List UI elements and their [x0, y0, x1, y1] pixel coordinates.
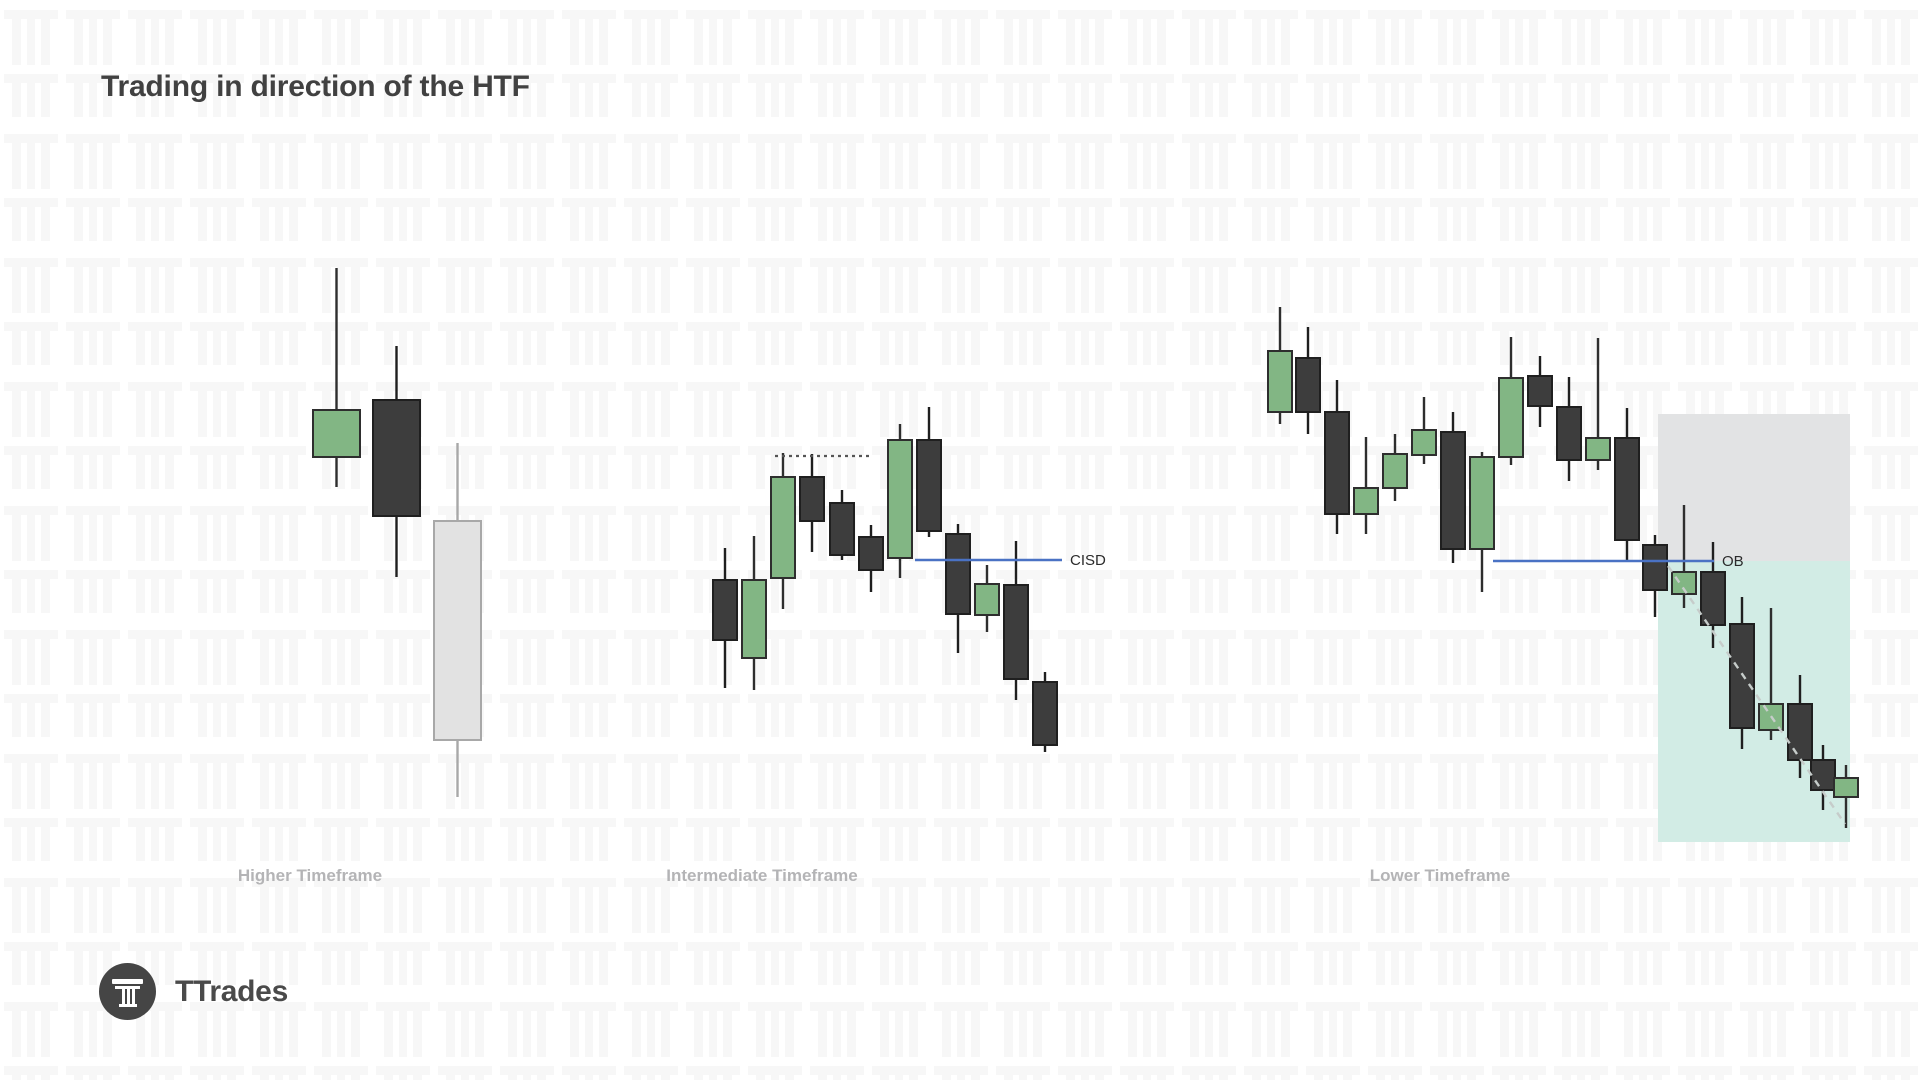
- candle-intermediate-timeframe-5[interactable]: [859, 525, 883, 592]
- candle-body-bear: [1701, 572, 1725, 625]
- panel-label-higher-timeframe: Higher Timeframe: [238, 866, 382, 886]
- candle-higher-timeframe-2[interactable]: [434, 443, 481, 797]
- candle-lower-timeframe-11[interactable]: [1586, 338, 1610, 470]
- candle-body-bear: [373, 400, 420, 516]
- candle-lower-timeframe-0[interactable]: [1268, 307, 1292, 424]
- panel-label-intermediate-timeframe: Intermediate Timeframe: [666, 866, 857, 886]
- candle-intermediate-timeframe-7[interactable]: [917, 407, 941, 537]
- candle-body-bull: [1499, 378, 1523, 457]
- candle-intermediate-timeframe-2[interactable]: [771, 453, 795, 609]
- page-title: Trading in direction of the HTF: [101, 70, 530, 104]
- candle-body-bull: [1586, 438, 1610, 460]
- candle-body-bear: [1643, 545, 1667, 590]
- ttrades-logo-icon: [99, 963, 156, 1020]
- candle-intermediate-timeframe-1[interactable]: [742, 536, 766, 690]
- candle-body-bear: [1033, 682, 1057, 745]
- candle-lower-timeframe-5[interactable]: [1412, 397, 1436, 464]
- candle-intermediate-timeframe-8[interactable]: [946, 524, 970, 653]
- candle-body-bear: [1557, 407, 1581, 460]
- candle-body-bear: [1004, 585, 1028, 679]
- candle-body-bear: [1615, 438, 1639, 540]
- candle-body-bear: [946, 534, 970, 614]
- candle-body-bear: [1296, 358, 1320, 412]
- candle-lower-timeframe-7[interactable]: [1470, 452, 1494, 592]
- candle-intermediate-timeframe-0[interactable]: [713, 548, 737, 688]
- panel-label-lower-timeframe: Lower Timeframe: [1370, 866, 1510, 886]
- brand-name: TTrades: [175, 975, 288, 1009]
- candle-body-bull: [1268, 351, 1292, 412]
- panel-higher-timeframe: [313, 268, 481, 797]
- candle-intermediate-timeframe-11[interactable]: [1033, 672, 1057, 752]
- candle-body-bear: [830, 503, 854, 555]
- candle-body-bull: [313, 410, 360, 457]
- candle-lower-timeframe-3[interactable]: [1354, 437, 1378, 534]
- candle-higher-timeframe-1[interactable]: [373, 346, 420, 577]
- candle-body-bull: [1354, 488, 1378, 514]
- level-label-ob: OB: [1722, 553, 1744, 570]
- candle-body-bear: [713, 580, 737, 640]
- candle-lower-timeframe-9[interactable]: [1528, 356, 1552, 427]
- candle-body-bull: [742, 580, 766, 658]
- brand-footer: TTrades: [99, 963, 288, 1020]
- candle-lower-timeframe-6[interactable]: [1441, 412, 1465, 563]
- candle-intermediate-timeframe-4[interactable]: [830, 490, 854, 560]
- candle-lower-timeframe-12[interactable]: [1615, 408, 1639, 560]
- candle-body-bear: [1441, 432, 1465, 549]
- candle-body-bull: [1834, 778, 1858, 797]
- candle-lower-timeframe-1[interactable]: [1296, 327, 1320, 434]
- candle-intermediate-timeframe-3[interactable]: [800, 454, 824, 552]
- candle-intermediate-timeframe-6[interactable]: [888, 424, 912, 578]
- candle-body-bear: [1528, 376, 1552, 406]
- panel-lower-timeframe: OB: [1268, 307, 1858, 842]
- candle-body-bear: [1730, 624, 1754, 728]
- candle-lower-timeframe-8[interactable]: [1499, 337, 1523, 465]
- candle-body-bull: [771, 477, 795, 578]
- candle-higher-timeframe-0[interactable]: [313, 268, 360, 487]
- candle-body-bear: [917, 440, 941, 531]
- candle-body-bear: [1325, 412, 1349, 514]
- candle-body-bull: [1412, 430, 1436, 455]
- candle-body-bull: [1383, 454, 1407, 488]
- candle-intermediate-timeframe-9[interactable]: [975, 565, 999, 632]
- order-block-zone: [1658, 414, 1850, 561]
- candle-body-bear: [859, 537, 883, 570]
- candle-intermediate-timeframe-10[interactable]: [1004, 541, 1028, 700]
- chart-stage: CISDOB: [0, 0, 1920, 1080]
- candle-lower-timeframe-4[interactable]: [1383, 434, 1407, 501]
- candle-lower-timeframe-2[interactable]: [1325, 380, 1349, 534]
- candle-lower-timeframe-10[interactable]: [1557, 377, 1581, 481]
- candle-body-bull: [975, 584, 999, 615]
- candle-body-bear: [1788, 704, 1812, 760]
- candle-body-bear: [800, 477, 824, 521]
- level-label-cisd: CISD: [1070, 552, 1106, 569]
- candle-body-bull: [888, 440, 912, 558]
- candle-body-bear: [1811, 760, 1835, 790]
- candle-body-projection: [434, 521, 481, 740]
- candle-body-bull: [1470, 457, 1494, 549]
- panel-intermediate-timeframe: CISD: [713, 407, 1106, 752]
